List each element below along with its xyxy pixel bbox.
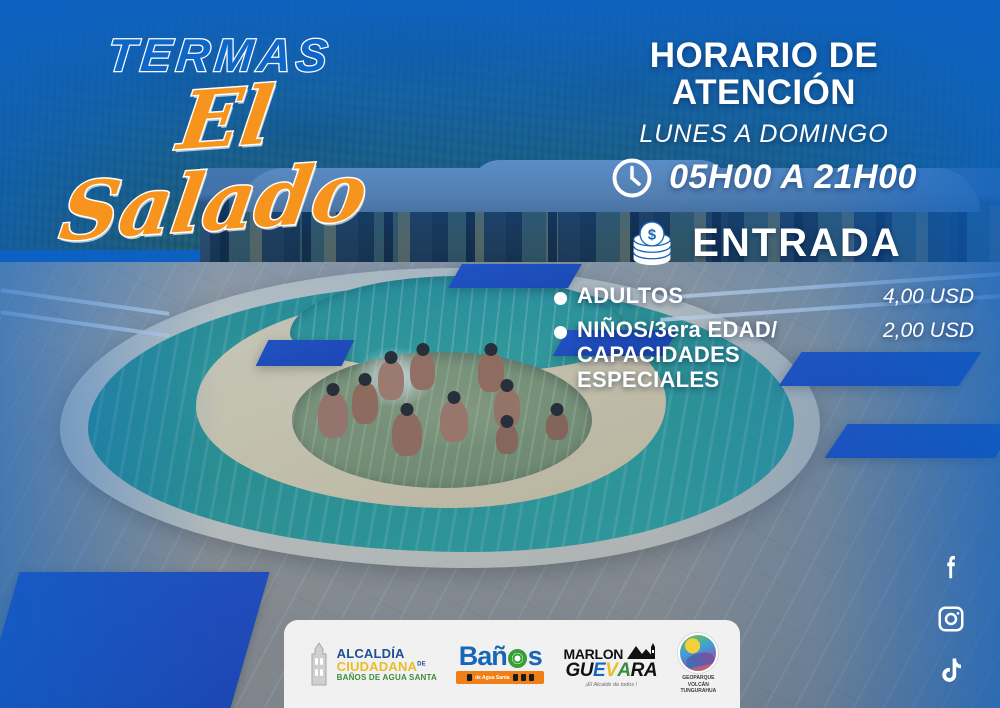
- schedule-hours-row: 05H00 A 21H00: [554, 157, 974, 199]
- guevara-e: E: [593, 661, 605, 680]
- price-label-adults: ADULTOS: [577, 283, 873, 308]
- church-tower-icon: [306, 642, 332, 686]
- price-row-reduced: NIÑOS/3era EDAD/ CAPACIDADES ESPECIALES …: [554, 317, 974, 393]
- tiktok-icon[interactable]: [936, 656, 966, 686]
- banos-circle-o-icon: [508, 649, 527, 668]
- instagram-icon[interactable]: [936, 604, 966, 634]
- logo-geoparque: GEOPARQUE VOLCÁN TUNGURAHUA: [678, 633, 718, 695]
- banos-part3: s: [528, 644, 542, 670]
- social-links: [936, 552, 966, 686]
- svg-text:$: $: [648, 227, 656, 243]
- poster-canvas: TERMAS El Salado HORARIO DE ATENCIÓN LUN…: [0, 0, 1000, 708]
- logo-alcaldia: ALCALDÍA CIUDADANADE BAÑOS DE AGUA SANTA: [306, 642, 437, 686]
- alcaldia-line3: BAÑOS DE AGUA SANTA: [337, 674, 437, 682]
- entrance-heading-row: $ ENTRADA: [554, 221, 974, 267]
- sponsor-bar: ALCALDÍA CIUDADANADE BAÑOS DE AGUA SANTA…: [284, 620, 740, 708]
- price-label-reduced-line1: NIÑOS/3era EDAD/: [577, 317, 777, 342]
- geopark-emblem-icon: [678, 633, 718, 673]
- geoparque-line3: TUNGURAHUA: [680, 688, 716, 695]
- marlon-top: MARLON: [563, 647, 623, 661]
- logo-banos: Bañ s de Agua Santa: [456, 644, 544, 685]
- guevara-a2: A: [644, 661, 657, 680]
- mountain-church-icon: [625, 641, 659, 661]
- price-row-adults: ADULTOS 4,00 USD: [554, 283, 974, 309]
- schedule-heading: HORARIO DE ATENCIÓN: [554, 38, 974, 112]
- brand-name: El Salado: [26, 64, 414, 257]
- banos-wordmark: Bañ s: [459, 644, 542, 670]
- schedule-hours: 05H00 A 21H00: [669, 158, 917, 197]
- banos-tagline-bar: de Agua Santa: [456, 671, 544, 684]
- schedule-days: LUNES A DOMINGO: [554, 120, 974, 149]
- geoparque-line2: VOLCÁN: [680, 682, 716, 689]
- clock-icon: [611, 157, 653, 199]
- facebook-icon[interactable]: [936, 552, 966, 582]
- logo-marlon-guevara: MARLON G U E V A R A ¡El Alcalde de todo…: [563, 641, 659, 688]
- price-label-reduced-line2: CAPACIDADES ESPECIALES: [577, 342, 740, 392]
- guevara-g: G: [566, 661, 580, 680]
- banos-part1: Bañ: [459, 644, 507, 670]
- price-list: ADULTOS 4,00 USD NIÑOS/3era EDAD/ CAPACI…: [554, 283, 974, 393]
- alcaldia-line2-sup: DE: [417, 661, 426, 667]
- entrance-heading: ENTRADA: [692, 221, 902, 266]
- bullet-icon: [554, 292, 567, 305]
- marlon-tagline: ¡El Alcalde de todos !: [585, 682, 637, 688]
- bullet-icon: [554, 326, 567, 339]
- price-value-adults: 4,00 USD: [883, 283, 974, 309]
- guevara-v: V: [605, 661, 617, 680]
- geoparque-line1: GEOPARQUE: [680, 675, 716, 682]
- price-value-reduced: 2,00 USD: [883, 317, 974, 343]
- banos-bar-text: de Agua Santa: [475, 675, 510, 681]
- guevara-r: R: [631, 661, 644, 680]
- brand-title-block: TERMAS El Salado: [40, 28, 400, 244]
- alcaldia-line2: CIUDADANA: [337, 659, 418, 674]
- info-column: HORARIO DE ATENCIÓN LUNES A DOMINGO 05H0…: [554, 38, 974, 400]
- price-label-reduced: NIÑOS/3era EDAD/ CAPACIDADES ESPECIALES: [577, 317, 873, 393]
- guevara-a1: A: [617, 661, 630, 680]
- coin-stack-icon: $: [626, 221, 678, 267]
- guevara-u: U: [580, 661, 593, 680]
